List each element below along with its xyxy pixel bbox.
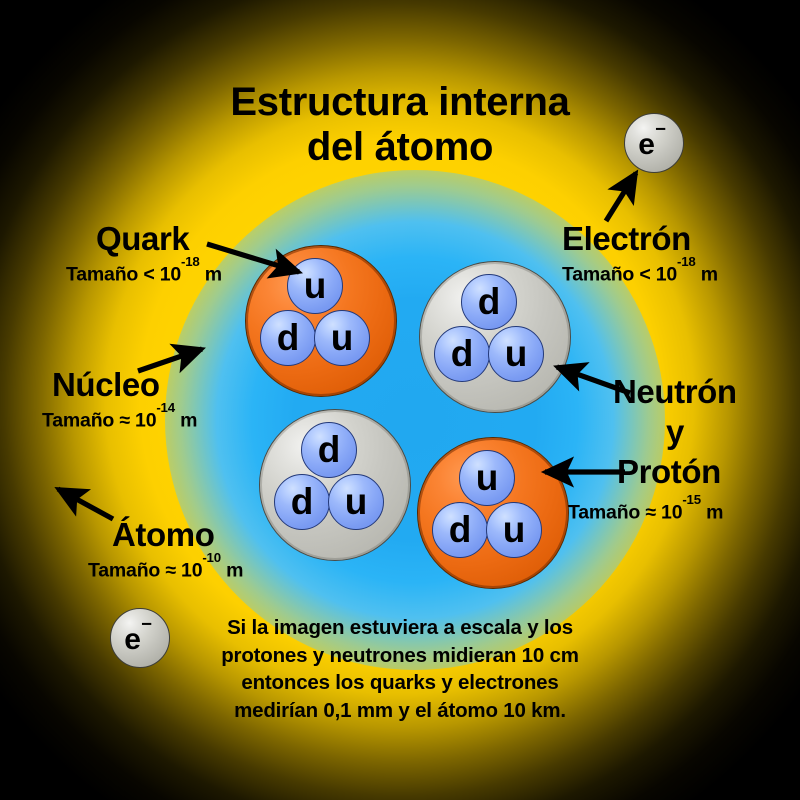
label-nucleus-size: Tamaño ≈ 10-14 m	[42, 408, 197, 431]
label-electron-size: Tamaño < 10-18 m	[562, 262, 718, 285]
label-quark-size: Tamaño < 10-18 m	[66, 262, 222, 285]
quark-label: u	[476, 459, 499, 496]
quark-label: d	[291, 483, 314, 520]
quark-label: u	[345, 483, 368, 520]
quark-sphere: u	[287, 258, 343, 314]
label-proton-name: Protón	[617, 455, 721, 488]
atom-structure-diagram: u d u d d u d d u u	[0, 0, 800, 800]
label-electron-name: Electrón	[562, 222, 691, 255]
label-neutron-name: Neutrón	[613, 375, 737, 408]
quark-label: d	[449, 511, 472, 548]
nucleon-proton-bottom-right: u d u	[417, 437, 569, 589]
nucleon-proton-top-left: u d u	[245, 245, 397, 397]
nucleon-neutron-top-right: d d u	[419, 261, 571, 413]
caption-line-3: entonces los quarks y electrones	[180, 669, 620, 697]
quark-sphere: d	[434, 326, 490, 382]
scale-caption: Si la imagen estuviera a escala y los pr…	[180, 614, 620, 725]
quark-label: u	[503, 511, 526, 548]
quark-sphere: d	[301, 422, 357, 478]
label-nucleon-conjunction: y	[666, 415, 684, 448]
quark-label: u	[304, 267, 327, 304]
quark-sphere: u	[459, 450, 515, 506]
nucleon-neutron-bottom-left: d d u	[259, 409, 411, 561]
caption-line-4: medirían 0,1 mm y el átomo 10 km.	[180, 697, 620, 725]
quark-label: d	[277, 319, 300, 356]
label-atom-name: Átomo	[112, 518, 214, 551]
quark-label: u	[505, 335, 528, 372]
caption-line-2: protones y neutrones midieran 10 cm	[180, 642, 620, 670]
electron-charge-glyph: e−	[124, 623, 152, 655]
quark-sphere: u	[488, 326, 544, 382]
title-line-2: del átomo	[200, 125, 600, 170]
quark-label: u	[331, 319, 354, 356]
label-nucleon-size: Tamaño ≈ 10-15 m	[568, 500, 723, 523]
label-atom-size: Tamaño ≈ 10-10 m	[88, 558, 243, 581]
quark-sphere: u	[328, 474, 384, 530]
label-nucleus-name: Núcleo	[52, 368, 160, 401]
caption-line-1: Si la imagen estuviera a escala y los	[180, 614, 620, 642]
quark-sphere: u	[314, 310, 370, 366]
diagram-title: Estructura interna del átomo	[200, 80, 600, 170]
quark-label: d	[318, 431, 341, 468]
quark-sphere: d	[461, 274, 517, 330]
electron-sphere-bottom-left: e−	[110, 608, 170, 668]
quark-sphere: d	[432, 502, 488, 558]
quark-sphere: u	[486, 502, 542, 558]
quark-sphere: d	[260, 310, 316, 366]
label-quark-name: Quark	[96, 222, 189, 255]
quark-label: d	[451, 335, 474, 372]
title-line-1: Estructura interna	[200, 80, 600, 125]
quark-sphere: d	[274, 474, 330, 530]
quark-label: d	[478, 283, 501, 320]
electron-charge-glyph: e−	[638, 128, 666, 160]
electron-sphere-top-right: e−	[624, 113, 684, 173]
